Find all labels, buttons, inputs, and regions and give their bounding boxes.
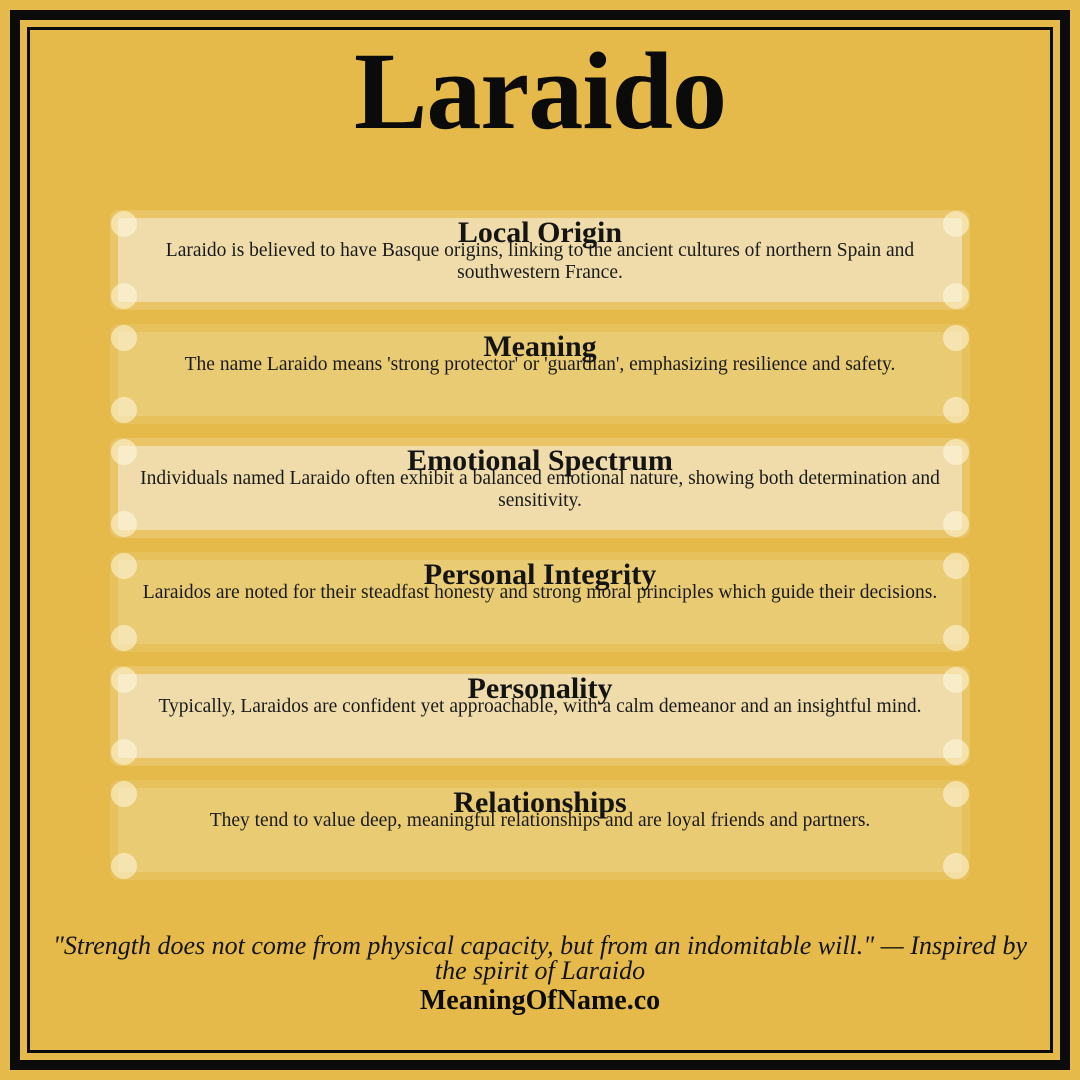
card-corner-dot-icon bbox=[943, 739, 969, 765]
card-body-text: Individuals named Laraido often exhibit … bbox=[136, 468, 944, 512]
brand-name: MeaningOfName.co bbox=[40, 985, 1040, 1017]
card-corner-dot-icon bbox=[943, 283, 969, 309]
card-corner-dot-icon bbox=[111, 853, 137, 879]
card-body-text: Laraidos are noted for their steadfast h… bbox=[136, 582, 944, 604]
footer-quote: "Strength does not come from physical ca… bbox=[40, 933, 1040, 983]
card-corner-dot-icon bbox=[943, 625, 969, 651]
info-card: Personal IntegrityLaraidos are noted for… bbox=[110, 552, 970, 652]
card-corner-dot-icon bbox=[111, 283, 137, 309]
poster-canvas: Laraido Local OriginLaraido is believed … bbox=[0, 0, 1080, 1080]
card-corner-dot-icon bbox=[943, 397, 969, 423]
card-corner-dot-icon bbox=[111, 397, 137, 423]
info-card: RelationshipsThey tend to value deep, me… bbox=[110, 780, 970, 880]
info-card: Local OriginLaraido is believed to have … bbox=[110, 210, 970, 310]
info-card: Emotional SpectrumIndividuals named Lara… bbox=[110, 438, 970, 538]
card-corner-dot-icon bbox=[111, 739, 137, 765]
info-card-list: Local OriginLaraido is believed to have … bbox=[110, 210, 970, 894]
card-body-text: Typically, Laraidos are confident yet ap… bbox=[136, 696, 944, 718]
info-card: PersonalityTypically, Laraidos are confi… bbox=[110, 666, 970, 766]
card-corner-dot-icon bbox=[111, 625, 137, 651]
card-corner-dot-icon bbox=[943, 511, 969, 537]
card-body-text: Laraido is believed to have Basque origi… bbox=[136, 240, 944, 284]
card-body-text: They tend to value deep, meaningful rela… bbox=[136, 810, 944, 832]
info-card: MeaningThe name Laraido means 'strong pr… bbox=[110, 324, 970, 424]
card-corner-dot-icon bbox=[111, 511, 137, 537]
page-title: Laraido bbox=[0, 36, 1080, 146]
card-corner-dot-icon bbox=[943, 853, 969, 879]
footer: "Strength does not come from physical ca… bbox=[40, 933, 1040, 1017]
card-body-text: The name Laraido means 'strong protector… bbox=[136, 354, 944, 376]
